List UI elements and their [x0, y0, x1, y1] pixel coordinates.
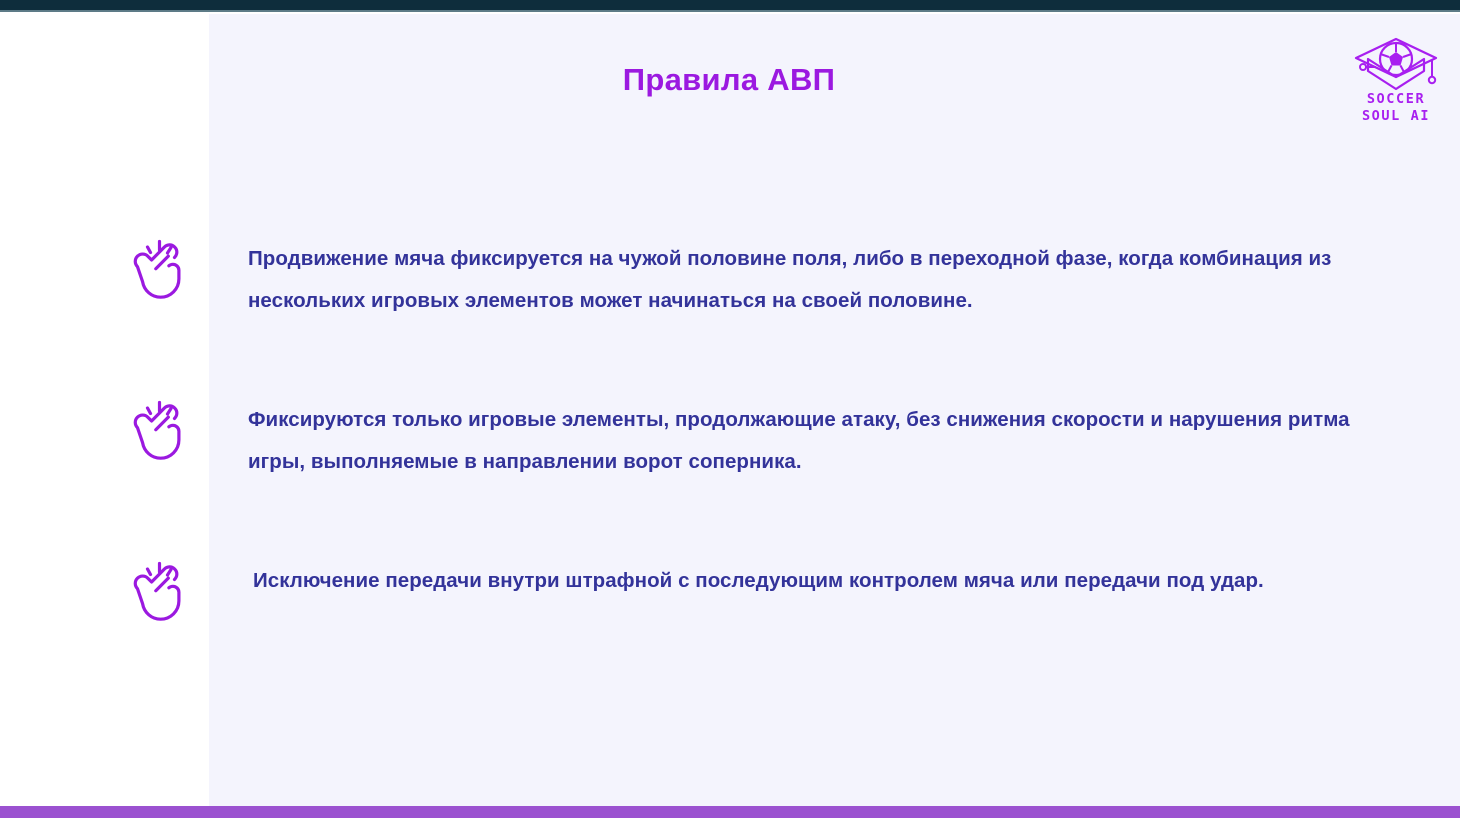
- bullet-item: Продвижение мяча фиксируется на чужой по…: [130, 238, 1420, 322]
- bullet-item: Фиксируются только игровые элементы, про…: [130, 399, 1420, 483]
- brand-logo-line2: SOUL AI: [1340, 108, 1452, 125]
- bullet-text: Фиксируются только игровые элементы, про…: [248, 399, 1386, 483]
- slide-root: Правила АВП: [0, 0, 1460, 818]
- brand-logo: SOCCER SOUL AI: [1340, 33, 1452, 131]
- tap-hand-icon: [130, 238, 192, 304]
- tap-hand-icon: [130, 560, 192, 626]
- tap-hand-icon: [130, 399, 192, 465]
- top-accent-bar: [0, 0, 1460, 12]
- bullet-item: Исключение передачи внутри штрафной с по…: [130, 560, 1420, 626]
- page-title: Правила АВП: [209, 62, 1249, 98]
- bottom-accent-bar: [0, 806, 1460, 818]
- bullet-text: Продвижение мяча фиксируется на чужой по…: [248, 238, 1386, 322]
- brand-logo-text: SOCCER SOUL AI: [1340, 91, 1452, 125]
- graduation-cap-soccer-ball-logo-icon: [1346, 33, 1446, 93]
- bullet-text: Исключение передачи внутри штрафной с по…: [248, 560, 1386, 602]
- brand-logo-line1: SOCCER: [1340, 91, 1452, 108]
